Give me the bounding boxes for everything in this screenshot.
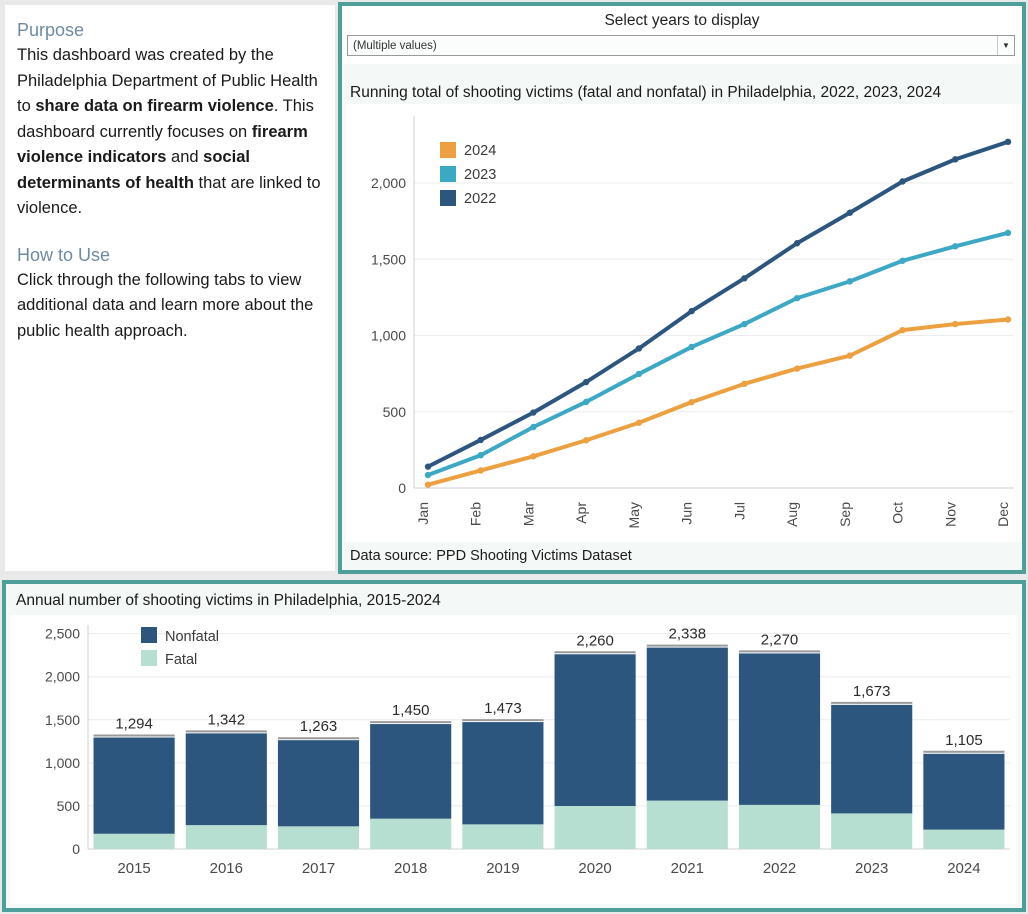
legend-label-2024[interactable]: 2024 — [464, 143, 496, 159]
purpose-body: This dashboard was created by the Philad… — [17, 43, 321, 222]
x-axis-tick: Dec — [995, 502, 1011, 527]
line-point — [952, 243, 958, 249]
bar-segment-fatal[interactable] — [370, 819, 451, 849]
bar-value-label: 1,263 — [300, 718, 338, 735]
x-axis-category: 2015 — [117, 860, 150, 877]
x-axis-category: 2017 — [302, 860, 335, 877]
line-point — [425, 472, 431, 478]
line-point — [636, 371, 642, 377]
bar-segment-nonfatal[interactable] — [462, 722, 543, 824]
line-point — [688, 399, 694, 405]
year-filter-value: (Multiple values) — [348, 40, 997, 52]
how-to-use-heading: How to Use — [17, 244, 321, 266]
line-chart: 05001,0001,5002,000JanFebMarAprMayJunJul… — [346, 104, 1022, 552]
bar-segment-nonfatal[interactable] — [278, 740, 359, 826]
line-series-2023 — [428, 233, 1008, 475]
top-area: Purpose This dashboard was created by th… — [0, 0, 1028, 576]
year-filter-dropdown[interactable]: (Multiple values) ▼ — [347, 35, 1015, 56]
y-axis-tick: 500 — [57, 798, 81, 814]
line-point — [741, 275, 747, 281]
line-point — [794, 295, 800, 301]
x-axis-category: 2023 — [855, 860, 888, 877]
line-point — [530, 409, 536, 415]
line-point — [478, 437, 484, 443]
y-axis-tick: 0 — [398, 480, 406, 496]
bar-chart-title: Annual number of shooting victims in Phi… — [16, 592, 441, 610]
line-point — [530, 453, 536, 459]
legend-swatch-2022[interactable] — [440, 190, 456, 206]
x-axis-category: 2019 — [486, 860, 519, 877]
bar-segment-fatal[interactable] — [647, 801, 728, 849]
bar-segment-fatal[interactable] — [831, 813, 912, 849]
x-axis-tick: Aug — [784, 502, 800, 527]
x-axis-category: 2020 — [578, 860, 611, 877]
legend-swatch-nonfatal[interactable] — [141, 627, 157, 643]
bar-value-label: 1,294 — [115, 716, 153, 733]
y-axis-tick: 2,000 — [45, 669, 80, 685]
y-axis-tick: 0 — [72, 841, 80, 857]
line-point — [899, 258, 905, 264]
bar-segment-nonfatal[interactable] — [555, 654, 636, 806]
bar-value-label: 2,260 — [576, 632, 614, 649]
bar-segment-fatal[interactable] — [739, 805, 820, 849]
x-axis-tick: Mar — [520, 502, 536, 526]
line-point — [636, 420, 642, 426]
bar-segment-nonfatal[interactable] — [923, 754, 1004, 830]
how-to-use-body: Click through the following tabs to view… — [17, 268, 321, 345]
legend-label-fatal[interactable]: Fatal — [165, 652, 197, 668]
x-axis-tick: Oct — [890, 502, 906, 524]
x-axis-tick: Jun — [679, 502, 695, 525]
x-axis-tick: Feb — [468, 502, 484, 526]
line-point — [1005, 230, 1011, 236]
y-axis-tick: 1,000 — [371, 328, 406, 344]
legend-swatch-fatal[interactable] — [141, 650, 157, 666]
line-point — [478, 452, 484, 458]
bar-segment-nonfatal[interactable] — [831, 705, 912, 814]
bar-value-label: 1,473 — [484, 700, 522, 717]
line-chart-svg: 05001,0001,5002,000JanFebMarAprMayJunJul… — [346, 104, 1022, 552]
line-point — [636, 345, 642, 351]
y-axis-tick: 500 — [383, 404, 407, 420]
line-point — [794, 240, 800, 246]
bar-segment-fatal[interactable] — [923, 830, 1004, 849]
x-axis-tick: Sep — [837, 502, 853, 527]
x-axis-category: 2021 — [671, 860, 704, 877]
x-axis-tick: May — [626, 502, 642, 528]
bar-segment-nonfatal[interactable] — [647, 648, 728, 801]
bar-segment-nonfatal[interactable] — [739, 653, 820, 804]
line-point — [847, 352, 853, 358]
bar-segment-fatal[interactable] — [462, 824, 543, 849]
line-point — [899, 327, 905, 333]
chevron-down-icon[interactable]: ▼ — [997, 36, 1014, 55]
x-axis-category: 2024 — [947, 860, 980, 877]
bar-segment-nonfatal[interactable] — [370, 724, 451, 819]
line-point — [530, 424, 536, 430]
bar-value-label: 1,105 — [945, 732, 983, 749]
x-axis-category: 2018 — [394, 860, 427, 877]
bar-value-label: 1,342 — [208, 711, 246, 728]
legend-swatch-2023[interactable] — [440, 166, 456, 182]
bar-chart-svg: 05001,0001,5002,0002,5001,29420151,34220… — [10, 615, 1018, 904]
bar-segment-nonfatal[interactable] — [94, 738, 175, 834]
purpose-panel: Purpose This dashboard was created by th… — [5, 5, 335, 571]
line-point — [478, 467, 484, 473]
line-point — [741, 321, 747, 327]
y-axis-tick: 2,000 — [371, 175, 406, 191]
y-axis-tick: 1,000 — [45, 755, 80, 771]
y-axis-tick: 1,500 — [371, 251, 406, 267]
x-axis-tick: Apr — [573, 502, 589, 524]
dashboard-root: Purpose This dashboard was created by th… — [0, 0, 1028, 914]
bar-segment-fatal[interactable] — [186, 825, 267, 849]
running-total-panel: Select years to display (Multiple values… — [338, 2, 1026, 574]
line-point — [847, 210, 853, 216]
line-point — [952, 156, 958, 162]
bar-segment-fatal[interactable] — [278, 826, 359, 849]
line-series-2022 — [428, 142, 1008, 467]
purpose-heading: Purpose — [17, 19, 321, 41]
legend-swatch-2024[interactable] — [440, 142, 456, 158]
legend-label-nonfatal[interactable]: Nonfatal — [165, 629, 219, 645]
line-point — [952, 321, 958, 327]
line-chart-source-text: Data source: PPD Shooting Victims Datase… — [342, 548, 632, 564]
line-point — [583, 399, 589, 405]
line-point — [583, 437, 589, 443]
bar-chart: 05001,0001,5002,0002,5001,29420151,34220… — [10, 615, 1018, 904]
line-point — [688, 308, 694, 314]
line-chart-title: Running total of shooting victims (fatal… — [350, 84, 1016, 102]
line-point — [794, 365, 800, 371]
line-point — [688, 344, 694, 350]
y-axis-tick: 2,500 — [45, 626, 80, 642]
annual-victims-panel: Annual number of shooting victims in Phi… — [2, 580, 1026, 912]
x-axis-tick: Jan — [415, 502, 431, 525]
bar-value-label: 2,338 — [669, 626, 707, 643]
bar-value-label: 1,450 — [392, 702, 430, 719]
line-point — [741, 381, 747, 387]
y-axis-tick: 1,500 — [45, 712, 80, 728]
year-filter-label: Select years to display — [342, 12, 1022, 30]
legend-label-2022[interactable]: 2022 — [464, 191, 496, 207]
x-axis-tick: Jul — [731, 502, 747, 520]
line-chart-source: Data source: PPD Shooting Victims Datase… — [342, 542, 1022, 570]
year-filter-zone: Select years to display (Multiple values… — [342, 6, 1022, 64]
line-point — [1005, 139, 1011, 145]
x-axis-category: 2016 — [210, 860, 243, 877]
bar-segment-fatal[interactable] — [555, 806, 636, 849]
line-point — [1005, 316, 1011, 322]
line-point — [425, 481, 431, 487]
line-series-2024 — [428, 319, 1008, 484]
legend-label-2023[interactable]: 2023 — [464, 167, 496, 183]
bar-value-label: 2,270 — [761, 631, 799, 648]
line-point — [899, 178, 905, 184]
line-point — [425, 463, 431, 469]
x-axis-tick: Nov — [942, 502, 958, 527]
x-axis-category: 2022 — [763, 860, 796, 877]
line-point — [847, 278, 853, 284]
bar-segment-nonfatal[interactable] — [186, 733, 267, 825]
bar-segment-fatal[interactable] — [94, 834, 175, 849]
line-point — [583, 379, 589, 385]
bar-value-label: 1,673 — [853, 683, 891, 700]
